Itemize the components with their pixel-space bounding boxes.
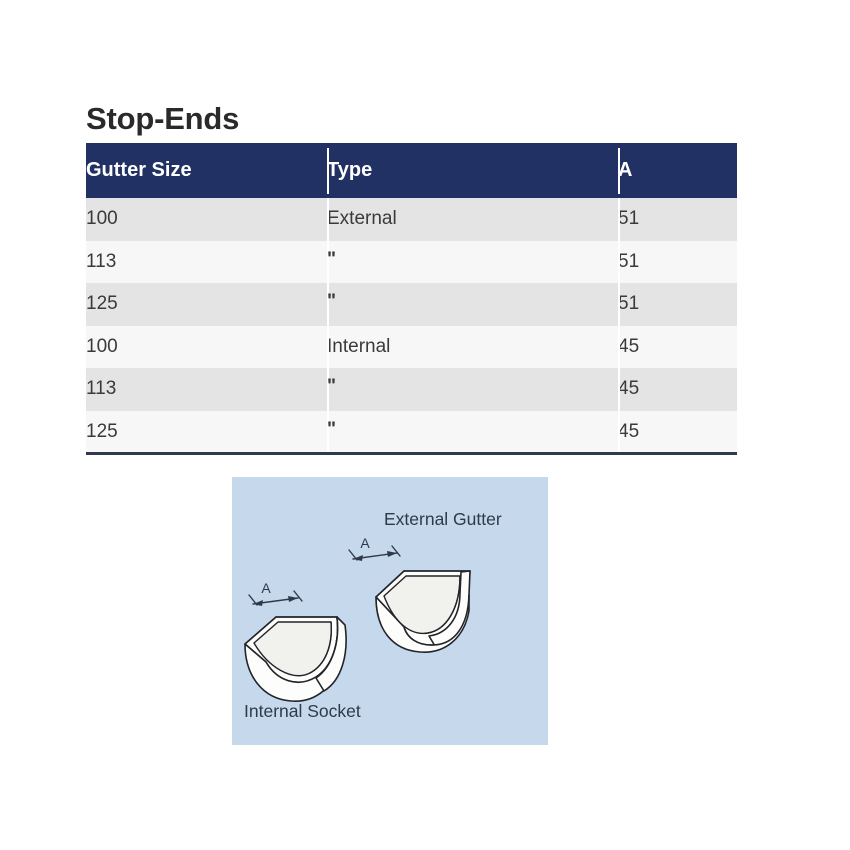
dimension-internal: A xyxy=(249,580,302,606)
table-bottom-rule xyxy=(86,452,737,455)
column-header-gutter-size: Gutter Size xyxy=(86,143,327,198)
diagram-panel: External Gutter xyxy=(232,477,548,745)
internal-socket-label: Internal Socket xyxy=(244,701,361,721)
table-row: 125 " 45 xyxy=(86,411,737,454)
stop-ends-diagram: External Gutter xyxy=(232,477,548,745)
ditto-mark: " xyxy=(327,291,337,313)
cell-a: 51 xyxy=(618,241,737,284)
external-gutter-label: External Gutter xyxy=(384,509,502,529)
table-row: 113 " 45 xyxy=(86,368,737,411)
cell-type: " xyxy=(327,368,618,411)
cell-type: " xyxy=(327,411,618,454)
column-header-a: A xyxy=(618,143,737,198)
ditto-mark: " xyxy=(327,249,337,271)
page-root: Stop-Ends Gutter Size Type A 100 Externa… xyxy=(0,0,850,850)
cell-a: 51 xyxy=(618,283,737,326)
cell-a: 45 xyxy=(618,411,737,454)
stop-ends-table: Gutter Size Type A 100 External 51 113 "… xyxy=(86,143,737,453)
internal-socket-part xyxy=(245,617,346,701)
page-title: Stop-Ends xyxy=(86,102,239,136)
table-row: 100 External 51 xyxy=(86,198,737,241)
cell-type: External xyxy=(327,198,618,241)
cell-gutter-size: 100 xyxy=(86,198,327,241)
table-body: 100 External 51 113 " 51 125 " 51 100 xyxy=(86,198,737,453)
external-gutter-part xyxy=(376,571,470,652)
table-row: 125 " 51 xyxy=(86,283,737,326)
cell-gutter-size: 113 xyxy=(86,241,327,284)
table-row: 100 Internal 45 xyxy=(86,326,737,369)
column-header-type: Type xyxy=(327,143,618,198)
cell-gutter-size: 100 xyxy=(86,326,327,369)
table-row: 113 " 51 xyxy=(86,241,737,284)
dimension-external: A xyxy=(349,535,400,561)
cell-a: 45 xyxy=(618,326,737,369)
cell-a: 51 xyxy=(618,198,737,241)
cell-gutter-size: 125 xyxy=(86,283,327,326)
cell-type: " xyxy=(327,283,618,326)
watermark xyxy=(455,85,735,125)
cell-type: Internal xyxy=(327,326,618,369)
cell-gutter-size: 113 xyxy=(86,368,327,411)
table-header-row: Gutter Size Type A xyxy=(86,143,737,198)
cell-a: 45 xyxy=(618,368,737,411)
dimension-label-internal: A xyxy=(261,580,271,596)
cell-type: " xyxy=(327,241,618,284)
dimension-label-external: A xyxy=(360,535,370,551)
cell-gutter-size: 125 xyxy=(86,411,327,454)
ditto-mark: " xyxy=(327,376,337,398)
ditto-mark: " xyxy=(327,419,337,441)
table-head: Gutter Size Type A xyxy=(86,143,737,198)
